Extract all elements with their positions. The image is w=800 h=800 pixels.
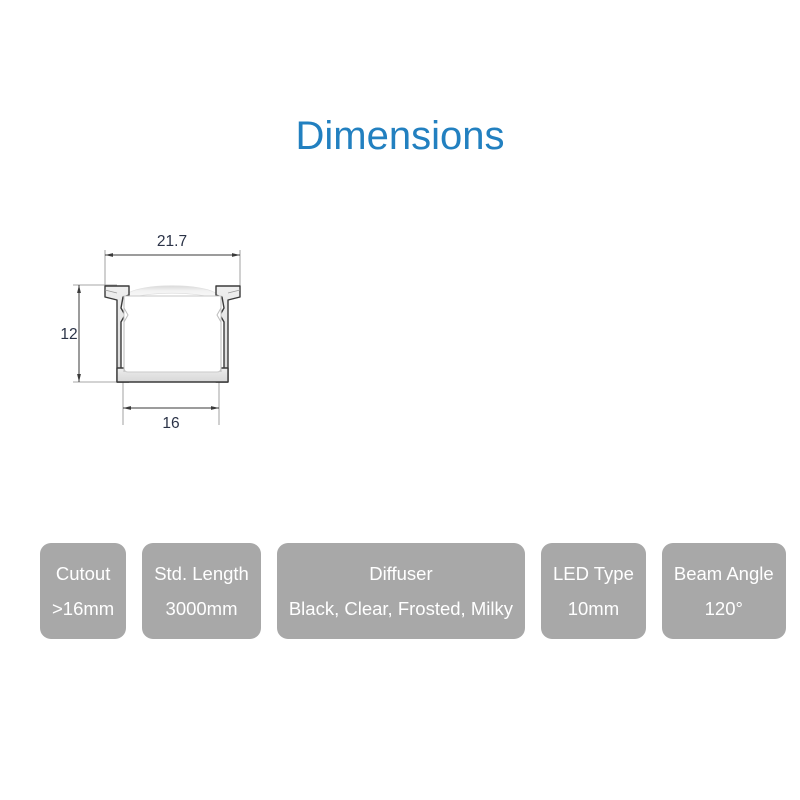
dimension-top-width: 21.7 (105, 233, 240, 255)
spec-value-cutout: >16mm (52, 599, 114, 618)
spec-box-std-length: Std. Length 3000mm (142, 543, 261, 639)
page-title: Dimensions (0, 112, 800, 160)
spec-value-std-length: 3000mm (166, 599, 238, 618)
dimension-bottom-width: 16 (123, 408, 219, 432)
dimension-bottom-width-label: 16 (162, 415, 179, 432)
spec-label-beam-angle: Beam Angle (674, 564, 774, 583)
spec-box-beam-angle: Beam Angle 120° (662, 543, 786, 639)
spec-box-diffuser: Diffuser Black, Clear, Frosted, Milky (277, 543, 525, 639)
dimension-drawing: 21.7 12 16 (55, 228, 275, 453)
spec-value-led-type: 10mm (568, 599, 619, 618)
spec-label-led-type: LED Type (553, 564, 634, 583)
spec-label-diffuser: Diffuser (369, 564, 432, 583)
spec-label-cutout: Cutout (56, 564, 111, 583)
spec-label-std-length: Std. Length (154, 564, 249, 583)
spec-value-beam-angle: 120° (705, 599, 743, 618)
dimension-height: 12 (60, 285, 79, 382)
spec-box-led-type: LED Type 10mm (541, 543, 646, 639)
spec-box-cutout: Cutout >16mm (40, 543, 126, 639)
dimension-height-label: 12 (60, 326, 77, 343)
extrusion-profile (105, 286, 240, 382)
spec-boxes-row: Cutout >16mm Std. Length 3000mm Diffuser… (40, 543, 752, 639)
channel-cavity (124, 296, 221, 372)
dimension-top-width-label: 21.7 (157, 233, 187, 250)
spec-value-diffuser: Black, Clear, Frosted, Milky (289, 599, 513, 618)
